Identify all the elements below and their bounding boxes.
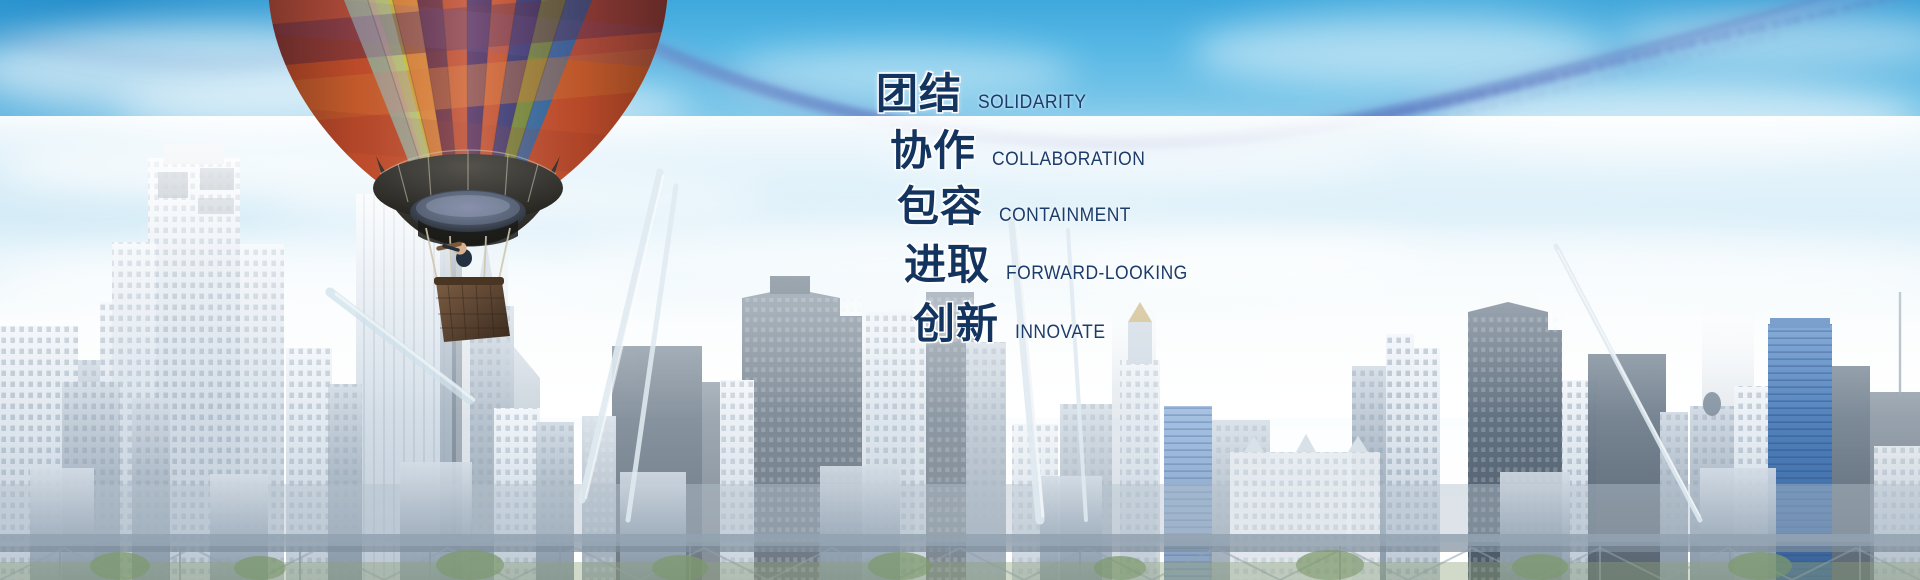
slogan-en: FORWARD-LOOKING	[1006, 263, 1188, 285]
slogan-row: 团结 SOLIDARITY	[876, 73, 1096, 115]
slogan-en: SOLIDARITY	[978, 92, 1087, 114]
slogan-en: CONTAINMENT	[999, 205, 1131, 227]
slogan-en: COLLABORATION	[992, 149, 1145, 171]
slogan-cn: 创新	[913, 303, 999, 345]
slogan-cn: 团结	[876, 73, 962, 115]
slogan-row: 协作 COLLABORATION	[890, 130, 1159, 172]
culture-banner: 团结 SOLIDARITY 协作 COLLABORATION 包容 CONTAI…	[0, 0, 1920, 580]
slogan-block: 团结 SOLIDARITY 协作 COLLABORATION 包容 CONTAI…	[0, 0, 1920, 580]
slogan-row: 创新 INNOVATE	[913, 303, 1113, 345]
slogan-en: INNOVATE	[1015, 322, 1105, 344]
slogan-cn: 包容	[897, 186, 983, 228]
slogan-row: 包容 CONTAINMENT	[897, 186, 1142, 228]
slogan-cn: 进取	[904, 244, 990, 286]
slogan-cn: 协作	[890, 130, 976, 172]
slogan-row: 进取 FORWARD-LOOKING	[904, 244, 1204, 286]
